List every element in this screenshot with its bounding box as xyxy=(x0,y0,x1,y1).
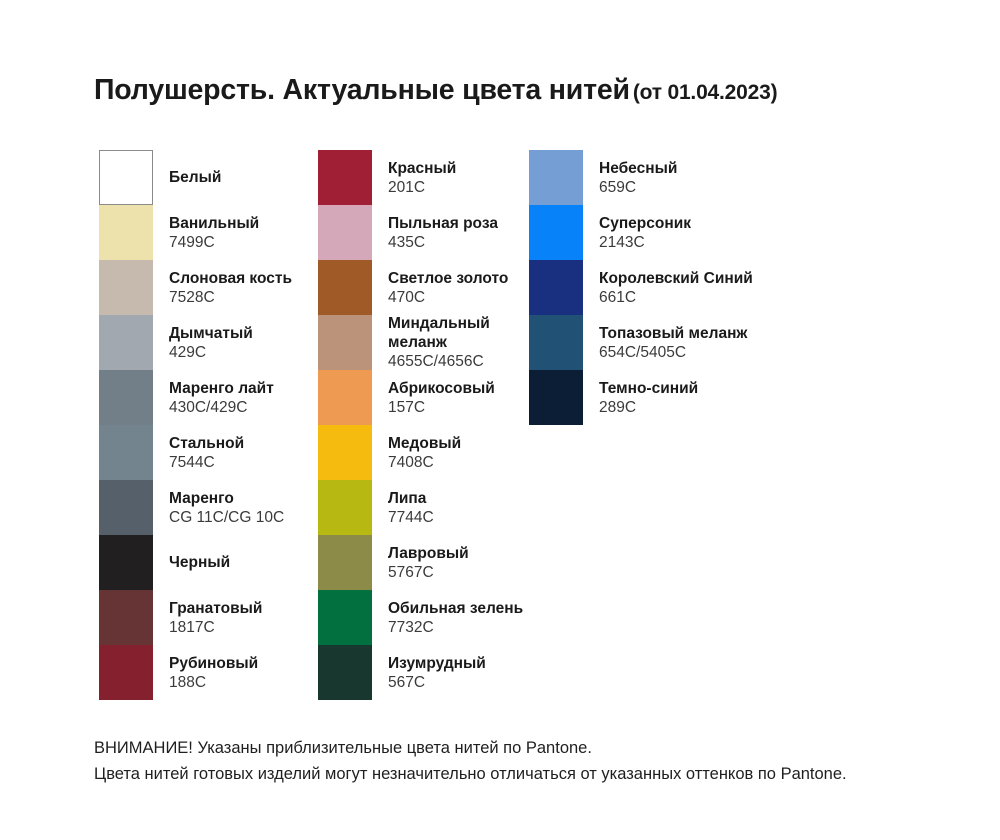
swatch-pantone-code: 435C xyxy=(388,233,498,252)
swatch-label-block: Липа7744C xyxy=(388,480,434,535)
swatch-row[interactable]: Изумрудный567C xyxy=(318,645,518,700)
swatch-name: Ванильный xyxy=(169,214,259,233)
color-swatch[interactable] xyxy=(99,150,153,205)
swatch-label-block: Обильная зелень7732C xyxy=(388,590,523,645)
swatch-name: Гранатовый xyxy=(169,599,262,618)
swatch-row[interactable]: Медовый7408C xyxy=(318,425,518,480)
swatch-label-block: Белый xyxy=(169,150,221,205)
swatch-row[interactable]: Липа7744C xyxy=(318,480,518,535)
swatch-row[interactable]: Стальной7544C xyxy=(99,425,314,480)
swatch-name: Абрикосовый xyxy=(388,379,495,398)
swatch-name: Дымчатый xyxy=(169,324,253,343)
swatch-name: Пыльная роза xyxy=(388,214,498,233)
swatch-row[interactable]: Топазовый меланж654C/5405C xyxy=(529,315,779,370)
swatch-row[interactable]: Абрикосовый157C xyxy=(318,370,518,425)
swatch-pantone-code: 7744C xyxy=(388,508,434,527)
swatch-name: Липа xyxy=(388,489,434,508)
swatch-label-block: Лавровый5767C xyxy=(388,535,469,590)
swatch-name: Обильная зелень xyxy=(388,599,523,618)
swatch-name: Красный xyxy=(388,159,456,178)
swatch-row[interactable]: Дымчатый429C xyxy=(99,315,314,370)
color-swatch[interactable] xyxy=(318,150,372,205)
swatch-name: Лавровый xyxy=(388,544,469,563)
swatch-pantone-code: 157C xyxy=(388,398,495,417)
swatch-pantone-code: 430C/429C xyxy=(169,398,274,417)
swatch-label-block: Королевский Синий661C xyxy=(599,260,753,315)
column-neutrals: БелыйВанильный7499CСлоновая кость7528CДы… xyxy=(99,150,314,700)
swatch-pantone-code: 7528C xyxy=(169,288,292,307)
color-swatch[interactable] xyxy=(99,535,153,590)
swatch-name: Слоновая кость xyxy=(169,269,292,288)
swatch-row[interactable]: Обильная зелень7732C xyxy=(318,590,518,645)
color-swatch[interactable] xyxy=(99,645,153,700)
swatch-label-block: Рубиновый188C xyxy=(169,645,258,700)
swatch-pantone-code: 1817C xyxy=(169,618,262,637)
swatch-name: Миндальный меланж xyxy=(388,314,518,352)
swatch-name: Маренго xyxy=(169,489,284,508)
swatch-name: Темно-синий xyxy=(599,379,698,398)
swatch-row[interactable]: Небесный659C xyxy=(529,150,779,205)
footer-line-2: Цвета нитей готовых изделий могут незнач… xyxy=(94,761,964,787)
swatch-label-block: Слоновая кость7528C xyxy=(169,260,292,315)
swatch-pantone-code: CG 11C/CG 10C xyxy=(169,508,284,527)
swatch-row[interactable]: Красный201C xyxy=(318,150,518,205)
swatch-label-block: Темно-синий289C xyxy=(599,370,698,425)
swatch-row[interactable]: Пыльная роза435C xyxy=(318,205,518,260)
column-blues: Небесный659CСуперсоник2143CКоролевский С… xyxy=(529,150,779,425)
color-swatch[interactable] xyxy=(318,425,372,480)
color-swatch[interactable] xyxy=(318,480,372,535)
swatch-label-block: Маренго лайт430C/429C xyxy=(169,370,274,425)
page-title: Полушерсть. Актуальные цвета нитей(от 01… xyxy=(94,74,954,107)
swatch-pantone-code: 7408C xyxy=(388,453,461,472)
swatch-pantone-code: 7544C xyxy=(169,453,244,472)
page-title-date: (от 01.04.2023) xyxy=(633,81,778,104)
swatch-label-block: Гранатовый1817C xyxy=(169,590,262,645)
swatch-label-block: Светлое золото470C xyxy=(388,260,508,315)
swatch-row[interactable]: Суперсоник2143C xyxy=(529,205,779,260)
swatch-pantone-code: 654C/5405C xyxy=(599,343,747,362)
color-swatch[interactable] xyxy=(318,205,372,260)
swatch-name: Небесный xyxy=(599,159,677,178)
swatch-name: Светлое золото xyxy=(388,269,508,288)
swatch-row[interactable]: МаренгоCG 11C/CG 10C xyxy=(99,480,314,535)
footer-line-1: ВНИМАНИЕ! Указаны приблизительные цвета … xyxy=(94,735,964,761)
swatch-label-block: Суперсоник2143C xyxy=(599,205,691,260)
swatch-row[interactable]: Светлое золото470C xyxy=(318,260,518,315)
color-swatch[interactable] xyxy=(99,425,153,480)
color-swatch[interactable] xyxy=(99,260,153,315)
swatch-pantone-code: 188C xyxy=(169,673,258,692)
swatch-pantone-code: 470C xyxy=(388,288,508,307)
color-swatch[interactable] xyxy=(99,315,153,370)
swatch-name: Черный xyxy=(169,553,230,572)
color-swatch[interactable] xyxy=(318,590,372,645)
swatch-pantone-code: 429C xyxy=(169,343,253,362)
color-swatch[interactable] xyxy=(99,590,153,645)
color-swatch[interactable] xyxy=(99,480,153,535)
swatch-columns: БелыйВанильный7499CСлоновая кость7528CДы… xyxy=(0,150,1000,710)
swatch-name: Стальной xyxy=(169,434,244,453)
swatch-row[interactable]: Маренго лайт430C/429C xyxy=(99,370,314,425)
swatch-label-block: Медовый7408C xyxy=(388,425,461,480)
swatch-name: Маренго лайт xyxy=(169,379,274,398)
swatch-pantone-code: 7732C xyxy=(388,618,523,637)
swatch-row[interactable]: Черный xyxy=(99,535,314,590)
swatch-row[interactable]: Слоновая кость7528C xyxy=(99,260,314,315)
swatch-pantone-code: 2143C xyxy=(599,233,691,252)
page-title-main: Полушерсть. Актуальные цвета нитей xyxy=(94,74,630,106)
swatch-name: Суперсоник xyxy=(599,214,691,233)
footer-notice: ВНИМАНИЕ! Указаны приблизительные цвета … xyxy=(94,735,964,787)
color-swatch[interactable] xyxy=(529,205,583,260)
color-swatch[interactable] xyxy=(529,260,583,315)
color-palette-page: Полушерсть. Актуальные цвета нитей(от 01… xyxy=(0,0,1000,840)
color-swatch[interactable] xyxy=(318,370,372,425)
column-warm: Красный201CПыльная роза435CСветлое золот… xyxy=(318,150,518,700)
swatch-name: Топазовый меланж xyxy=(599,324,747,343)
swatch-pantone-code: 5767C xyxy=(388,563,469,582)
color-swatch[interactable] xyxy=(99,205,153,260)
swatch-label-block: МаренгоCG 11C/CG 10C xyxy=(169,480,284,535)
color-swatch[interactable] xyxy=(529,370,583,425)
swatch-pantone-code: 659C xyxy=(599,178,677,197)
swatch-name: Рубиновый xyxy=(169,654,258,673)
swatch-pantone-code: 289C xyxy=(599,398,698,417)
color-swatch[interactable] xyxy=(318,260,372,315)
swatch-label-block: Абрикосовый157C xyxy=(388,370,495,425)
color-swatch[interactable] xyxy=(318,535,372,590)
swatch-row[interactable]: Королевский Синий661C xyxy=(529,260,779,315)
swatch-label-block: Стальной7544C xyxy=(169,425,244,480)
swatch-name: Белый xyxy=(169,168,221,187)
color-swatch[interactable] xyxy=(318,645,372,700)
swatch-name: Изумрудный xyxy=(388,654,486,673)
swatch-label-block: Дымчатый429C xyxy=(169,315,253,370)
swatch-label-block: Миндальный меланж4655C/4656C xyxy=(388,315,518,370)
swatch-label-block: Пыльная роза435C xyxy=(388,205,498,260)
color-swatch[interactable] xyxy=(529,150,583,205)
swatch-pantone-code: 201C xyxy=(388,178,456,197)
swatch-row[interactable]: Ванильный7499C xyxy=(99,205,314,260)
color-swatch[interactable] xyxy=(99,370,153,425)
swatch-pantone-code: 567C xyxy=(388,673,486,692)
swatch-name: Медовый xyxy=(388,434,461,453)
swatch-row[interactable]: Миндальный меланж4655C/4656C xyxy=(318,315,518,370)
swatch-pantone-code: 661C xyxy=(599,288,753,307)
swatch-label-block: Топазовый меланж654C/5405C xyxy=(599,315,747,370)
color-swatch[interactable] xyxy=(318,315,372,370)
swatch-row[interactable]: Лавровый5767C xyxy=(318,535,518,590)
swatch-label-block: Ванильный7499C xyxy=(169,205,259,260)
swatch-row[interactable]: Гранатовый1817C xyxy=(99,590,314,645)
swatch-row[interactable]: Белый xyxy=(99,150,314,205)
swatch-row[interactable]: Рубиновый188C xyxy=(99,645,314,700)
swatch-pantone-code: 4655C/4656C xyxy=(388,352,518,371)
swatch-pantone-code: 7499C xyxy=(169,233,259,252)
swatch-name: Королевский Синий xyxy=(599,269,753,288)
swatch-label-block: Черный xyxy=(169,535,230,590)
swatch-row[interactable]: Темно-синий289C xyxy=(529,370,779,425)
color-swatch[interactable] xyxy=(529,315,583,370)
swatch-label-block: Красный201C xyxy=(388,150,456,205)
swatch-label-block: Небесный659C xyxy=(599,150,677,205)
swatch-label-block: Изумрудный567C xyxy=(388,645,486,700)
